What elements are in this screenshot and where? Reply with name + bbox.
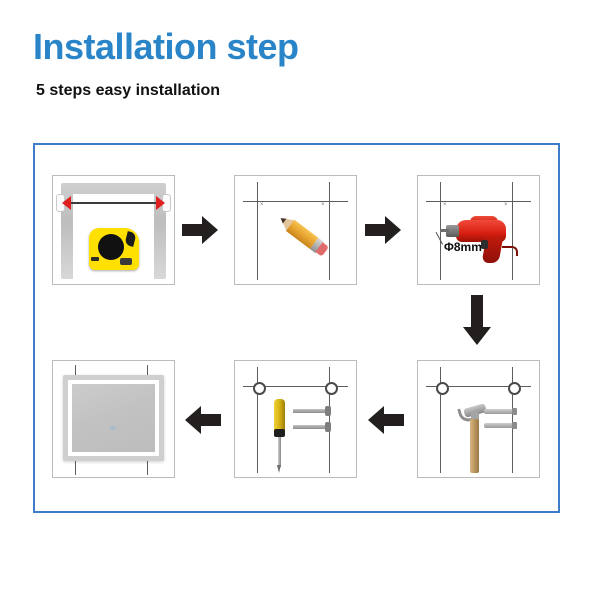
step-panel-4-hammer bbox=[417, 360, 540, 478]
measurement-arrow-left-icon bbox=[62, 196, 71, 210]
drill-trigger bbox=[481, 240, 488, 249]
drilled-hole-left-icon bbox=[436, 382, 449, 395]
next-step-arrow-left-1 bbox=[366, 403, 406, 437]
next-step-arrow-down bbox=[460, 293, 494, 349]
next-step-arrow-left-2 bbox=[183, 403, 223, 437]
pencil-icon bbox=[276, 213, 329, 258]
tape-measure-hub bbox=[98, 234, 124, 260]
guide-line-vertical-right bbox=[329, 182, 330, 280]
guide-line-vertical-left bbox=[257, 182, 258, 280]
drill-diameter-label: Φ8mm bbox=[444, 240, 482, 254]
guide-stub-bottom-left bbox=[75, 461, 76, 475]
next-step-arrow-right-2 bbox=[363, 213, 403, 247]
guide-stub-bottom-right bbox=[147, 461, 148, 475]
wall-anchor-top-icon bbox=[484, 409, 514, 414]
wall-anchor-bottom-icon bbox=[484, 423, 514, 428]
next-step-arrow-right-1 bbox=[180, 213, 220, 247]
measurement-line bbox=[69, 202, 158, 204]
screw-top-icon bbox=[293, 409, 327, 413]
installation-diagram: × × × × Φ8mm bbox=[33, 143, 560, 513]
screwdriver-handle bbox=[274, 399, 285, 433]
mark-cross-left-icon: × bbox=[443, 202, 447, 208]
measurement-arrow-right-icon bbox=[156, 196, 165, 210]
screwdriver-shaft bbox=[278, 437, 281, 467]
drilled-hole-left-icon bbox=[253, 382, 266, 395]
mounted-mirror-icon bbox=[63, 375, 164, 461]
step-panel-6-finished bbox=[52, 360, 175, 478]
guide-line-horizontal bbox=[243, 201, 348, 202]
hammer-handle bbox=[470, 419, 479, 473]
mirror-highlight bbox=[110, 426, 116, 430]
screwdriver-icon bbox=[271, 399, 287, 475]
tape-measure-icon bbox=[89, 228, 139, 270]
step-panel-3-drill: × × Φ8mm bbox=[417, 175, 540, 285]
page-subtitle: 5 steps easy installation bbox=[36, 82, 220, 100]
step-panel-2-mark: × × bbox=[234, 175, 357, 285]
mark-cross-right-icon: × bbox=[321, 202, 325, 208]
page-title: Installation step bbox=[33, 26, 299, 68]
screwdriver-tip bbox=[277, 465, 281, 473]
drilled-hole-right-icon bbox=[508, 382, 521, 395]
step-panel-5-screw bbox=[234, 360, 357, 478]
guide-line-horizontal bbox=[426, 201, 531, 202]
tape-measure-lock bbox=[120, 258, 132, 265]
screwdriver-collar bbox=[274, 429, 285, 437]
drilled-hole-right-icon bbox=[325, 382, 338, 395]
tape-measure-blade bbox=[91, 257, 99, 261]
drill-cord bbox=[502, 246, 518, 256]
mirror-glass-surface bbox=[72, 384, 155, 452]
step-panel-1-measure bbox=[52, 175, 175, 285]
mark-cross-left-icon: × bbox=[260, 202, 264, 208]
mark-cross-right-icon: × bbox=[504, 202, 508, 208]
mirror-led-border bbox=[68, 380, 159, 456]
screw-bottom-icon bbox=[293, 425, 327, 429]
